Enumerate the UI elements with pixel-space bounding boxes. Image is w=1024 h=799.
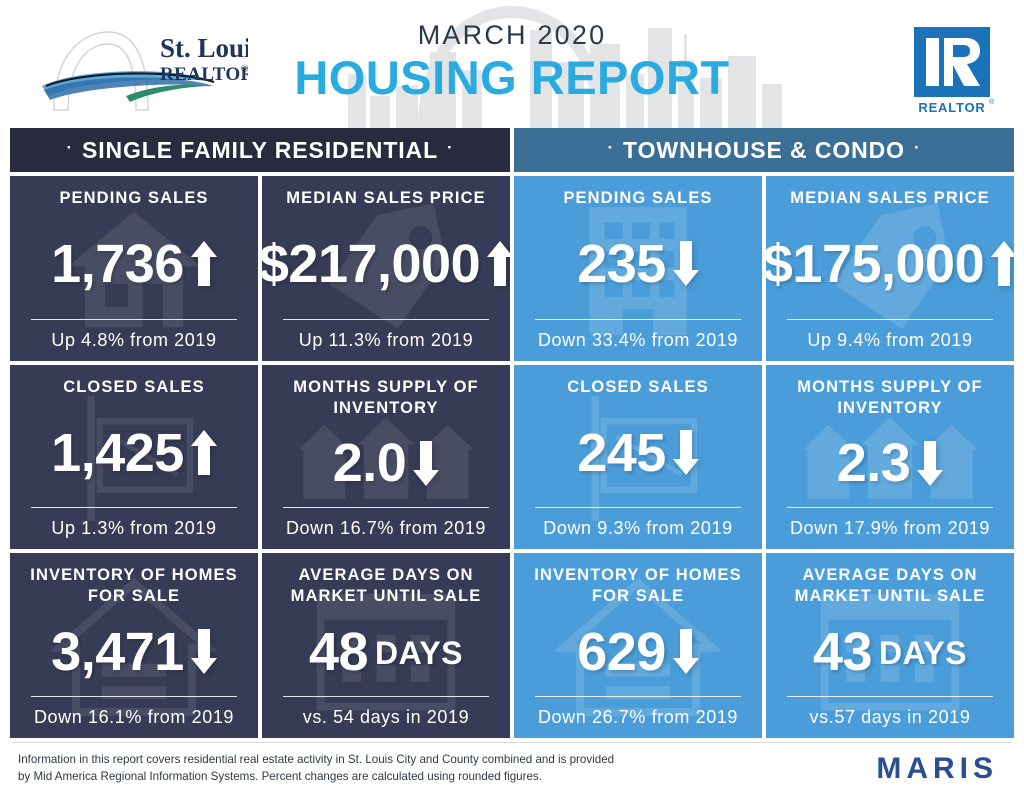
card-note: Down 16.7% from 2019 [286, 517, 486, 539]
card-value: 3,471 [51, 625, 184, 679]
card-value-group: 43 DAYS [813, 625, 967, 679]
card-value-wrap: 2.3 [776, 419, 1004, 508]
stat-card-months-supply-of-inventory[interactable]: MONTHS SUPPLY OF INVENTORY 2.0 Down 16.7… [262, 365, 510, 550]
card-value-group: 3,471 [51, 625, 217, 679]
card-value: 43 [813, 625, 872, 679]
card-divider [535, 696, 740, 697]
card-value-wrap: $175,000 [776, 209, 1004, 319]
card-value: $217,000 [262, 237, 480, 291]
card-label: AVERAGE DAYS ON MARKET UNTIL SALE [272, 565, 500, 607]
stat-card-average-days-on-market[interactable]: AVERAGE DAYS ON MARKET UNTIL SALE 48 DAY… [262, 553, 510, 738]
card-rows: PENDING SALES 235 Down 33.4% from 2019 [514, 176, 1014, 738]
card-label: CLOSED SALES [567, 377, 709, 398]
card-value-group: 235 [577, 237, 699, 291]
card-value-wrap: 629 [524, 607, 752, 696]
card-label: MONTHS SUPPLY OF INVENTORY [272, 377, 500, 419]
card-label: INVENTORY OF HOMES FOR SALE [20, 565, 248, 607]
realtor-logo: REALTOR ® [908, 25, 996, 117]
card-label: MONTHS SUPPLY OF INVENTORY [776, 377, 1004, 419]
card-divider [31, 507, 236, 508]
card-row: PENDING SALES 235 Down 33.4% from 2019 [514, 176, 1014, 361]
card-value: 629 [577, 625, 666, 679]
stat-card-median-sales-price[interactable]: MEDIAN SALES PRICE $217,000 Up 11.3% fro… [262, 176, 510, 361]
card-value-group: $217,000 [262, 237, 510, 291]
card-row: INVENTORY OF HOMES FOR SALE 3,471 Down 1… [10, 553, 510, 738]
arrow-down-icon [917, 441, 943, 486]
card-label: CLOSED SALES [63, 377, 205, 398]
card-label: AVERAGE DAYS ON MARKET UNTIL SALE [776, 565, 1004, 607]
card-value-group: 2.3 [837, 436, 944, 490]
card-rows: PENDING SALES 1,736 Up 4.8% from 2019 [10, 176, 510, 738]
card-value-group: 48 DAYS [309, 625, 463, 679]
card-value-group: 629 [577, 625, 699, 679]
section-townhouse-and-condo: · TOWNHOUSE & CONDO · [514, 128, 1014, 738]
card-label: MEDIAN SALES PRICE [790, 188, 990, 209]
card-value-unit: DAYS [375, 637, 463, 669]
card-value: 2.3 [837, 436, 911, 490]
card-note: vs.57 days in 2019 [810, 706, 971, 728]
report-month: MARCH 2020 [0, 18, 1024, 52]
bullet-right-icon: · [905, 138, 930, 158]
stat-card-months-supply-of-inventory[interactable]: MONTHS SUPPLY OF INVENTORY 2.3 Down 17.9… [766, 365, 1014, 550]
card-value-group: 245 [577, 426, 699, 480]
stat-card-closed-sales[interactable]: CLOSED SALES 245 Down 9.3% from 2019 [514, 365, 762, 550]
stats-board: · SINGLE FAMILY RESIDENTIAL · PENDING SA… [10, 128, 1014, 738]
card-divider [535, 319, 740, 320]
card-divider [787, 507, 992, 508]
stat-card-median-sales-price[interactable]: MEDIAN SALES PRICE $175,000 Up 9.4% from… [766, 176, 1014, 361]
card-label: INVENTORY OF HOMES FOR SALE [524, 565, 752, 607]
card-value-group: 2.0 [333, 436, 440, 490]
card-value-group: 1,425 [51, 426, 217, 480]
card-divider [31, 696, 236, 697]
card-value-wrap: 245 [524, 398, 752, 508]
card-label: PENDING SALES [59, 188, 208, 209]
card-divider [283, 696, 488, 697]
arrow-down-icon [673, 241, 699, 286]
card-value: $175,000 [766, 237, 984, 291]
card-row: CLOSED SALES 1,425 Up 1.3% from 2019 [10, 365, 510, 550]
section-title: TOWNHOUSE & CONDO [623, 137, 905, 164]
section-single-family-residential: · SINGLE FAMILY RESIDENTIAL · PENDING SA… [10, 128, 510, 738]
section-header-single-family-residential: · SINGLE FAMILY RESIDENTIAL · [10, 128, 510, 172]
card-divider [283, 319, 488, 320]
card-note: vs. 54 days in 2019 [303, 706, 470, 728]
card-note: Up 11.3% from 2019 [299, 329, 474, 351]
section-header-townhouse-and-condo: · TOWNHOUSE & CONDO · [514, 128, 1014, 172]
bullet-left-icon: · [598, 138, 623, 158]
card-note: Up 4.8% from 2019 [51, 329, 216, 351]
card-divider [283, 507, 488, 508]
card-value: 245 [577, 426, 666, 480]
card-value-wrap: 235 [524, 209, 752, 319]
report-header: St. Louis REALTORS ® MARCH 2020 HOUSING … [0, 0, 1024, 128]
card-value-wrap: 48 DAYS [272, 607, 500, 696]
card-value: 235 [577, 237, 666, 291]
card-divider [787, 319, 992, 320]
arrow-down-icon [413, 441, 439, 486]
card-note: Down 17.9% from 2019 [790, 517, 990, 539]
card-divider [535, 507, 740, 508]
card-value-wrap: 1,425 [20, 398, 248, 508]
card-row: INVENTORY OF HOMES FOR SALE 629 Down 26.… [514, 553, 1014, 738]
card-value: 1,736 [51, 237, 184, 291]
arrow-down-icon [673, 430, 699, 475]
report-title: HOUSING REPORT [0, 50, 1024, 106]
card-value-group: $175,000 [766, 237, 1014, 291]
arrow-up-icon [991, 241, 1014, 286]
card-row: CLOSED SALES 245 Down 9.3% from 2019 [514, 365, 1014, 550]
card-row: PENDING SALES 1,736 Up 4.8% from 2019 [10, 176, 510, 361]
footer-divider [12, 742, 1012, 743]
card-value-wrap: 3,471 [20, 607, 248, 696]
footer-disclaimer-line-1: Information in this report covers reside… [18, 751, 778, 768]
card-value-unit: DAYS [879, 637, 967, 669]
arrow-up-icon [191, 241, 217, 286]
card-value: 2.0 [333, 436, 407, 490]
card-value: 48 [309, 625, 368, 679]
arrow-down-icon [191, 629, 217, 674]
card-label: MEDIAN SALES PRICE [286, 188, 486, 209]
arrow-down-icon [673, 629, 699, 674]
stat-card-pending-sales[interactable]: PENDING SALES 1,736 Up 4.8% from 2019 [10, 176, 258, 361]
stat-card-inventory-of-homes-for-sale[interactable]: INVENTORY OF HOMES FOR SALE 629 Down 26.… [514, 553, 762, 738]
card-label: PENDING SALES [563, 188, 712, 209]
stat-card-inventory-of-homes-for-sale[interactable]: INVENTORY OF HOMES FOR SALE 3,471 Down 1… [10, 553, 258, 738]
report-footer: Information in this report covers reside… [0, 742, 1024, 799]
card-value-group: 1,736 [51, 237, 217, 291]
card-note: Down 26.7% from 2019 [538, 706, 738, 728]
footer-disclaimer: Information in this report covers reside… [18, 751, 778, 785]
svg-text:REALTOR: REALTOR [918, 100, 985, 115]
card-value: 1,425 [51, 426, 184, 480]
card-note: Up 1.3% from 2019 [51, 517, 216, 539]
svg-text:®: ® [989, 98, 995, 106]
card-divider [787, 696, 992, 697]
header-title-block: MARCH 2020 HOUSING REPORT [0, 18, 1024, 106]
maris-logo: MARIS [876, 752, 998, 786]
stat-card-closed-sales[interactable]: CLOSED SALES 1,425 Up 1.3% from 2019 [10, 365, 258, 550]
stat-card-pending-sales[interactable]: PENDING SALES 235 Down 33.4% from 2019 [514, 176, 762, 361]
footer-disclaimer-line-2: by Mid America Regional Information Syst… [18, 768, 778, 785]
card-value-wrap: 2.0 [272, 419, 500, 508]
card-value-wrap: 43 DAYS [776, 607, 1004, 696]
housing-report-infographic: St. Louis REALTORS ® MARCH 2020 HOUSING … [0, 0, 1024, 799]
card-divider [31, 319, 236, 320]
card-note: Down 33.4% from 2019 [538, 329, 738, 351]
section-title: SINGLE FAMILY RESIDENTIAL [82, 137, 438, 164]
bullet-left-icon: · [57, 138, 82, 158]
arrow-up-icon [487, 241, 510, 286]
card-note: Down 9.3% from 2019 [543, 517, 733, 539]
card-value-wrap: $217,000 [272, 209, 500, 319]
stat-card-average-days-on-market[interactable]: AVERAGE DAYS ON MARKET UNTIL SALE 43 DAY… [766, 553, 1014, 738]
card-value-wrap: 1,736 [20, 209, 248, 319]
arrow-up-icon [191, 430, 217, 475]
card-note: Up 9.4% from 2019 [807, 329, 972, 351]
card-note: Down 16.1% from 2019 [34, 706, 234, 728]
bullet-right-icon: · [438, 138, 463, 158]
